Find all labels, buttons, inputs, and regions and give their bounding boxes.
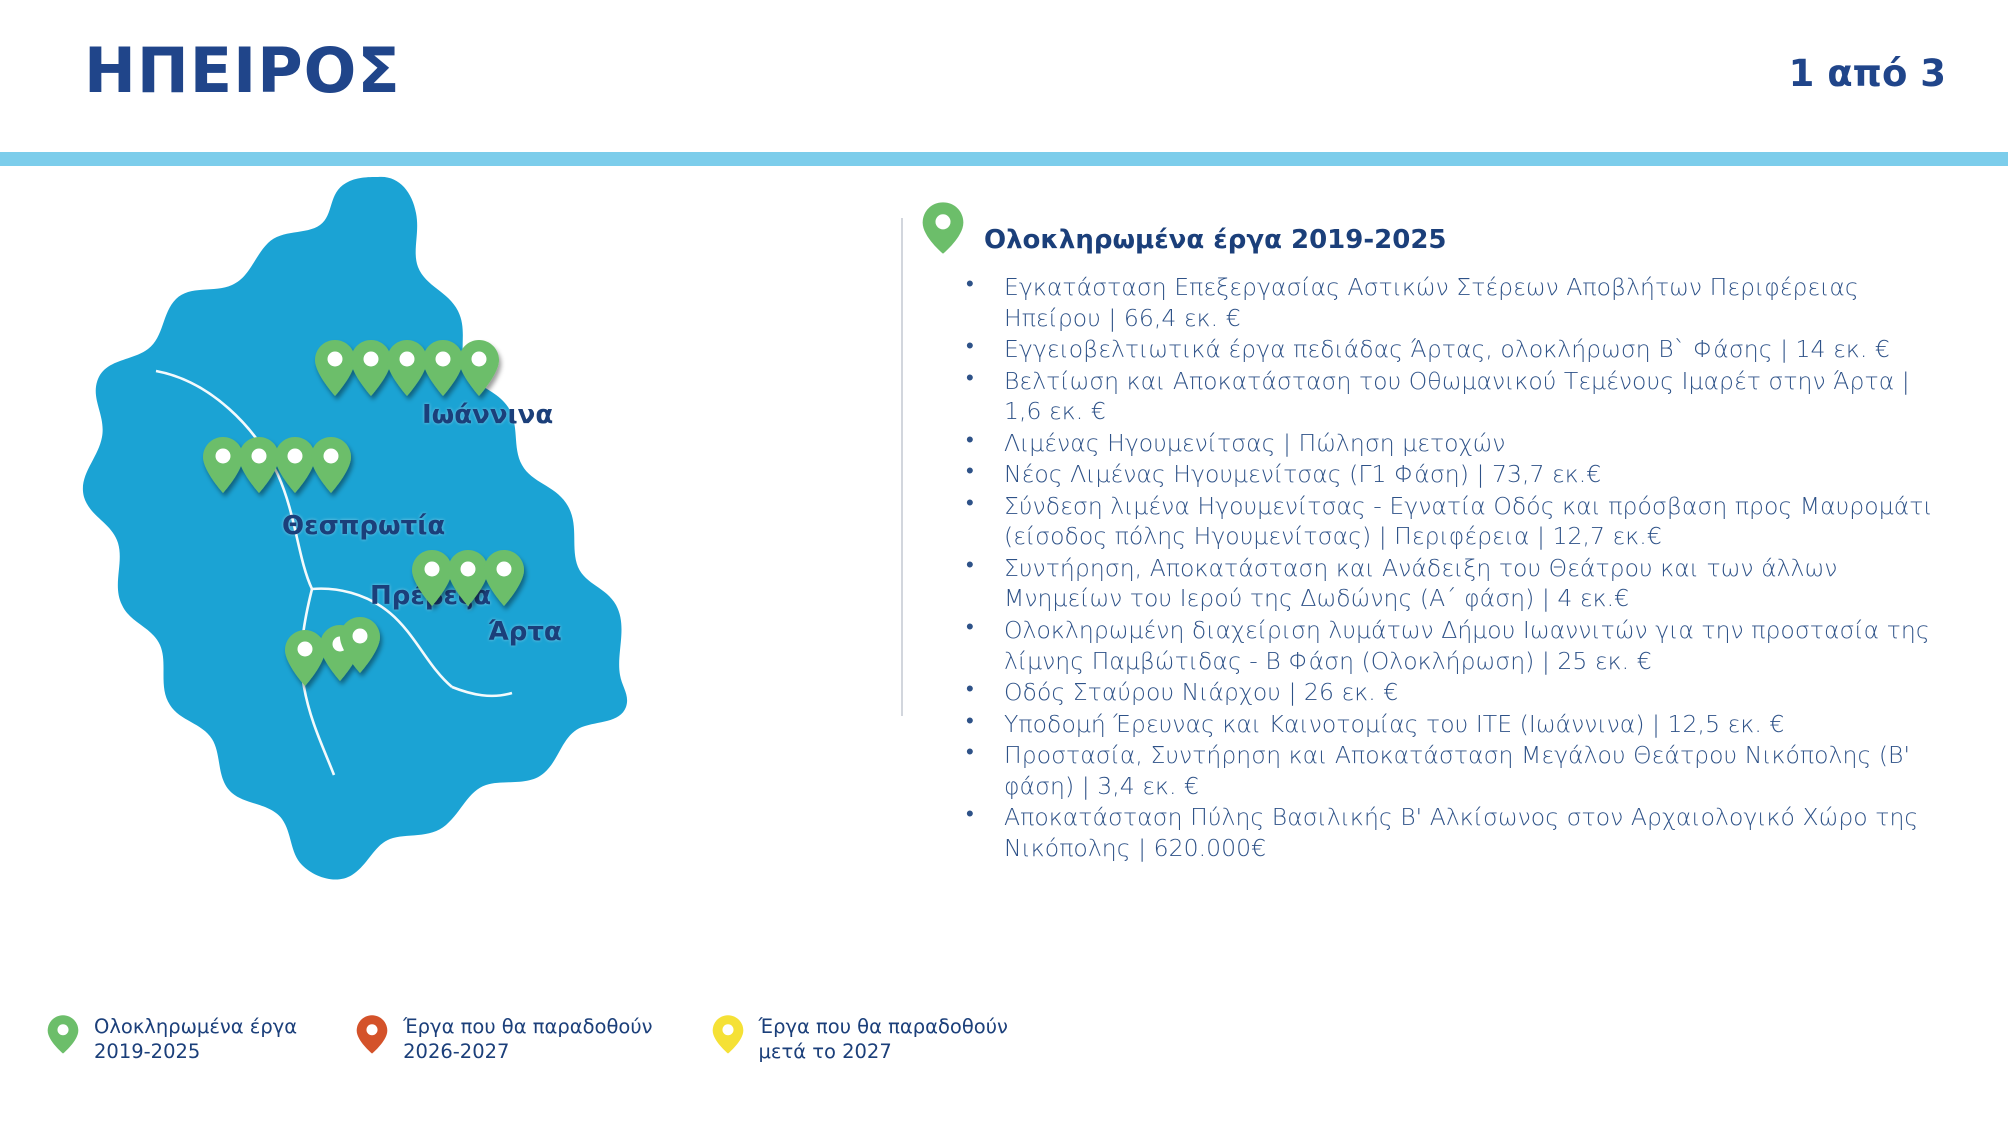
pin-cluster-thesprotia[interactable] [203,437,351,493]
list-item: Εγκατάσταση Επεξεργασίας Αστικών Στέρεων… [958,272,1940,333]
page-title: ΗΠΕΙΡΟΣ [84,38,401,103]
pin-cluster-preveza[interactable] [285,617,380,686]
pin-cluster-arta[interactable] [412,550,524,606]
header-divider-rule [0,152,2008,166]
list-item: Νέος Λιμένας Ηγουμενίτσας (Γ1 Φάση) | 73… [958,459,1940,490]
projects-list: Εγκατάσταση Επεξεργασίας Αστικών Στέρεων… [920,272,1940,863]
list-item: Βελτίωση και Αποκατάσταση του Οθωμανικού… [958,366,1940,427]
slide-root: ΗΠΕΙΡΟΣ 1 από 3 [0,0,2008,1123]
map-pin-green-icon [46,1010,80,1058]
list-item: Ολοκληρωμένη διαχείριση λυμάτων Δήμου Ιω… [958,615,1940,676]
pin-cluster-ioannina[interactable] [315,340,499,396]
list-item: Προστασία, Συντήρηση και Αποκατάσταση Με… [958,740,1940,801]
legend-label: Έργα που θα παραδοθούν 2026-2027 [403,1010,652,1065]
list-item: Υποδομή Έρευνας και Καινοτομίας του ΙΤΕ … [958,709,1940,740]
column-divider [901,218,903,716]
list-item: Εγγειοβελτιωτικά έργα πεδιάδας Άρτας, ολ… [958,334,1940,365]
list-item: Οδός Σταύρου Νιάρχου | 26 εκ. € [958,677,1940,708]
slide-header: ΗΠΕΙΡΟΣ 1 από 3 [0,0,2008,152]
section-header: Ολοκληρωμένα έργα 2019-2025 [920,214,1940,260]
list-item: Σύνδεση λιμένα Ηγουμενίτσας - Εγνατία Οδ… [958,491,1940,552]
legend-item-completed: Ολοκληρωμένα έργα 2019-2025 [46,1010,297,1065]
map-pin-yellow-icon [711,1010,745,1058]
epirus-map: Ιωάννινα Θεσπρωτία Πρέβεζα Άρτα [60,175,900,935]
list-item: Λιμένας Ηγουμενίτσας | Πώληση μετοχών [958,428,1940,459]
map-pin-orange-icon [355,1010,389,1058]
legend-item-after-2027: Έργα που θα παραδοθούν μετά το 2027 [711,1010,1008,1065]
map-pin-green-icon [920,196,966,260]
legend-label: Έργα που θα παραδοθούν μετά το 2027 [759,1010,1008,1065]
legend-item-2026-2027: Έργα που θα παραδοθούν 2026-2027 [355,1010,652,1065]
list-item: Συντήρηση, Αποκατάσταση και Ανάδειξη του… [958,553,1940,614]
list-item: Αποκατάσταση Πύλης Βασιλικής Β' Αλκίσωνο… [958,802,1940,863]
page-indicator: 1 από 3 [1789,52,1946,95]
section-title: Ολοκληρωμένα έργα 2019-2025 [984,214,1447,257]
projects-panel: Ολοκληρωμένα έργα 2019-2025 Εγκατάσταση … [920,214,1940,864]
legend-label: Ολοκληρωμένα έργα 2019-2025 [94,1010,297,1065]
map-legend: Ολοκληρωμένα έργα 2019-2025 Έργα που θα … [46,1010,1008,1065]
map-pins-layer [60,175,900,935]
